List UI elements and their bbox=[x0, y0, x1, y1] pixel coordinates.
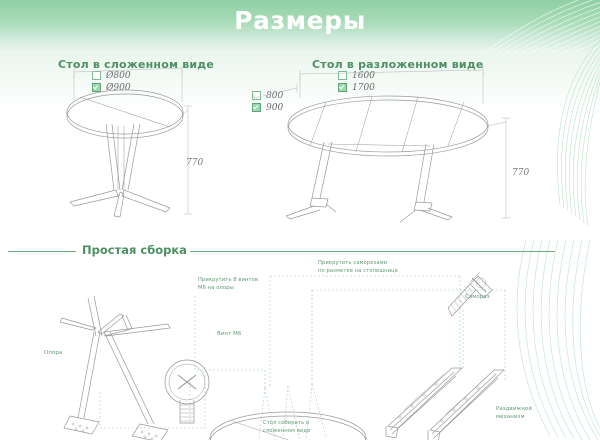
unfolded-height-value: 770 bbox=[512, 168, 529, 178]
divider-left bbox=[8, 251, 76, 252]
assembly-title: Простая сборка bbox=[82, 243, 187, 257]
part-label-leg: Опора bbox=[44, 350, 62, 358]
part-label-mechanism: Раздвижной механизм bbox=[496, 406, 532, 422]
unfolded-table-drawing bbox=[240, 66, 530, 226]
part-label-screw: Саморез bbox=[465, 294, 490, 302]
infographic-page: Размеры Стол в сложенном виде bbox=[0, 0, 600, 440]
assembly-section-header: Простая сборка bbox=[8, 243, 568, 259]
callout-assemble-folded: Стол собирать в сложенном виде bbox=[263, 420, 310, 435]
callout-self-tapping: Прикрутить саморезами по разметке на сто… bbox=[318, 260, 398, 275]
callout-screws-to-legs: Прикрутить 8 винтов М6 на опоры bbox=[198, 277, 258, 292]
folded-table-drawing bbox=[30, 66, 215, 221]
divider-right bbox=[190, 251, 555, 252]
part-label-bolt: Винт М6 bbox=[217, 331, 241, 339]
folded-height-value: 770 bbox=[186, 158, 203, 168]
